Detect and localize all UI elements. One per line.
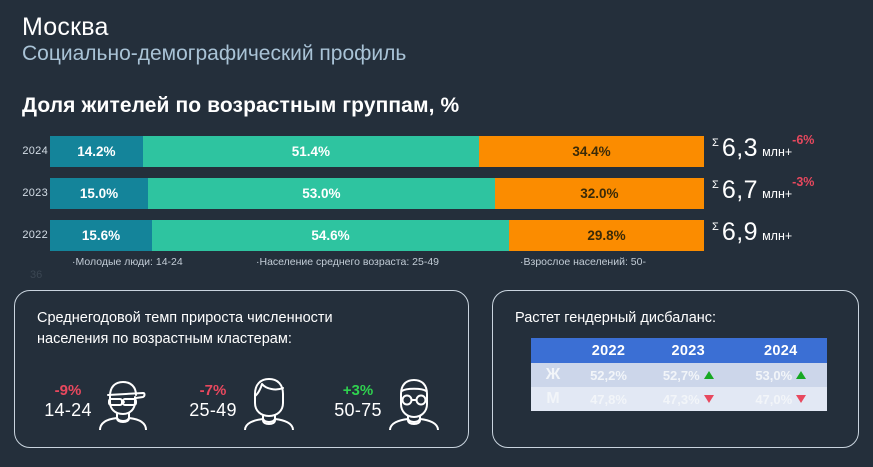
bar-total-value: 6,9 [722,218,758,247]
bar-segment-young[interactable]: 15.6% [50,220,152,251]
legend-item-older: ·Взрослое населений: 50- [520,256,646,268]
bar-segment-young[interactable]: 15.0% [50,178,148,209]
page-title: Москва [22,14,406,40]
bar-total: Σ 6,7 млн+ -3% [712,176,814,210]
cell-value: 47,3% [663,392,700,407]
chart-title: Доля жителей по возрастным группам, % [22,94,459,118]
bar-total-value: 6,3 [722,134,758,163]
growth-clusters: -9% 14-24 -7% 25-49 [25,365,460,439]
gender-imbalance-panel: Растет гендерный дисбаланс: 2022 2023 20… [492,290,859,448]
cell-male-2022: 47,8% [575,387,642,411]
cluster-text: -7% 25-49 [189,383,237,422]
bar-segment-young[interactable]: 14.2% [50,136,143,167]
column-header-2023: 2023 [642,338,734,363]
table-row: 2024 14.2% 51.4% 34.4% Σ 6,3 млн+ -6% [0,136,873,167]
gender-panel-title: Растет гендерный дисбаланс: [515,308,716,329]
bar-segment-middle[interactable]: 53.0% [148,178,495,209]
cell-female-2024: 53,0% [735,363,828,387]
bar-segment-older[interactable]: 34.4% [479,136,704,167]
trend-up-icon [796,371,806,379]
growth-panel-title-line1: Среднегодовой темп прироста численности [37,310,333,326]
page-header: Москва Социально-демографический профиль [22,14,406,68]
growth-cluster-14-24[interactable]: -9% 14-24 [25,365,170,439]
gender-key-male: М [531,387,575,411]
bar-total-delta: -3% [792,175,814,189]
column-header-2022: 2022 [575,338,642,363]
legend-item-young: ·Молодые люди: 14-24 [72,256,183,268]
cell-value: 47,0% [755,392,792,407]
bar-year-label: 2022 [14,220,48,251]
bar-segment-older[interactable]: 29.8% [509,220,704,251]
cluster-age-range: 25-49 [189,400,237,421]
sigma-icon: Σ [712,179,719,191]
table-row: Ж 52,2% 52,7% 53,0% [531,363,827,387]
table-row: 2022 15.6% 54.6% 29.8% Σ 6,9 млн+ [0,220,873,251]
cluster-percent: -9% [44,383,92,400]
bar-segment-middle[interactable]: 51.4% [143,136,479,167]
table-corner-cell [531,338,575,363]
youth-cap-sunglasses-icon [97,374,151,430]
stacked-bar-track: 14.2% 51.4% 34.4% [50,136,704,167]
cluster-percent: -7% [189,383,237,400]
cell-female-2022: 52,2% [575,363,642,387]
cell-male-2023: 47,3% [642,387,734,411]
growth-rate-panel: Среднегодовой темп прироста численности … [14,290,469,448]
adult-person-icon [242,374,296,430]
bar-total-value: 6,7 [722,176,758,205]
bar-segment-middle[interactable]: 54.6% [152,220,509,251]
trend-up-icon [704,371,714,379]
table-row: М 47,8% 47,3% 47,0% [531,387,827,411]
page-subtitle: Социально-демографический профиль [22,41,406,67]
legend-item-middle: ·Население среднего возраста: 25-49 [256,256,439,268]
growth-panel-title: Среднегодовой темп прироста численности … [37,308,333,350]
bar-total-delta: -6% [792,133,814,147]
sigma-icon: Σ [712,221,719,233]
cluster-age-range: 50-75 [334,400,382,421]
sigma-icon: Σ [712,137,719,149]
table-row: 2023 15.0% 53.0% 32.0% Σ 6,7 млн+ -3% [0,178,873,209]
bar-total: Σ 6,9 млн+ [712,218,792,252]
cluster-age-range: 14-24 [44,400,92,421]
table-header-row: 2022 2023 2024 [531,338,827,363]
trend-down-icon [704,395,714,403]
cell-male-2024: 47,0% [735,387,828,411]
bar-total-unit: млн+ [762,229,792,243]
bar-segment-older[interactable]: 32.0% [495,178,704,209]
bar-year-label: 2024 [14,136,48,167]
cluster-percent: +3% [334,383,382,400]
cell-value: 52,7% [663,368,700,383]
trend-down-icon [796,395,806,403]
growth-cluster-25-49[interactable]: -7% 25-49 [170,365,315,439]
cluster-text: -9% 14-24 [44,383,92,422]
age-group-bar-chart: 2024 14.2% 51.4% 34.4% Σ 6,3 млн+ -6% 20… [0,136,873,262]
chart-legend: ·Молодые люди: 14-24 ·Население среднего… [50,256,790,274]
cell-value: 47,8% [590,392,627,407]
cropped-text-artifact: 36 [30,270,42,278]
cell-value: 53,0% [755,368,792,383]
bar-total-unit: млн+ [762,187,792,201]
growth-cluster-50-75[interactable]: +3% 50-75 [315,365,460,439]
bar-year-label: 2023 [14,178,48,209]
bar-total-unit: млн+ [762,145,792,159]
bar-total: Σ 6,3 млн+ -6% [712,134,814,168]
stacked-bar-track: 15.0% 53.0% 32.0% [50,178,704,209]
stacked-bar-track: 15.6% 54.6% 29.8% [50,220,704,251]
gender-table: 2022 2023 2024 Ж 52,2% 52,7% 53,0% М [531,338,827,411]
growth-panel-title-line2: населения по возрастным кластерам: [37,331,292,347]
cell-female-2023: 52,7% [642,363,734,387]
senior-glasses-icon [387,374,441,430]
column-header-2024: 2024 [735,338,828,363]
gender-key-female: Ж [531,363,575,387]
cluster-text: +3% 50-75 [334,383,382,422]
cell-value: 52,2% [590,368,627,383]
